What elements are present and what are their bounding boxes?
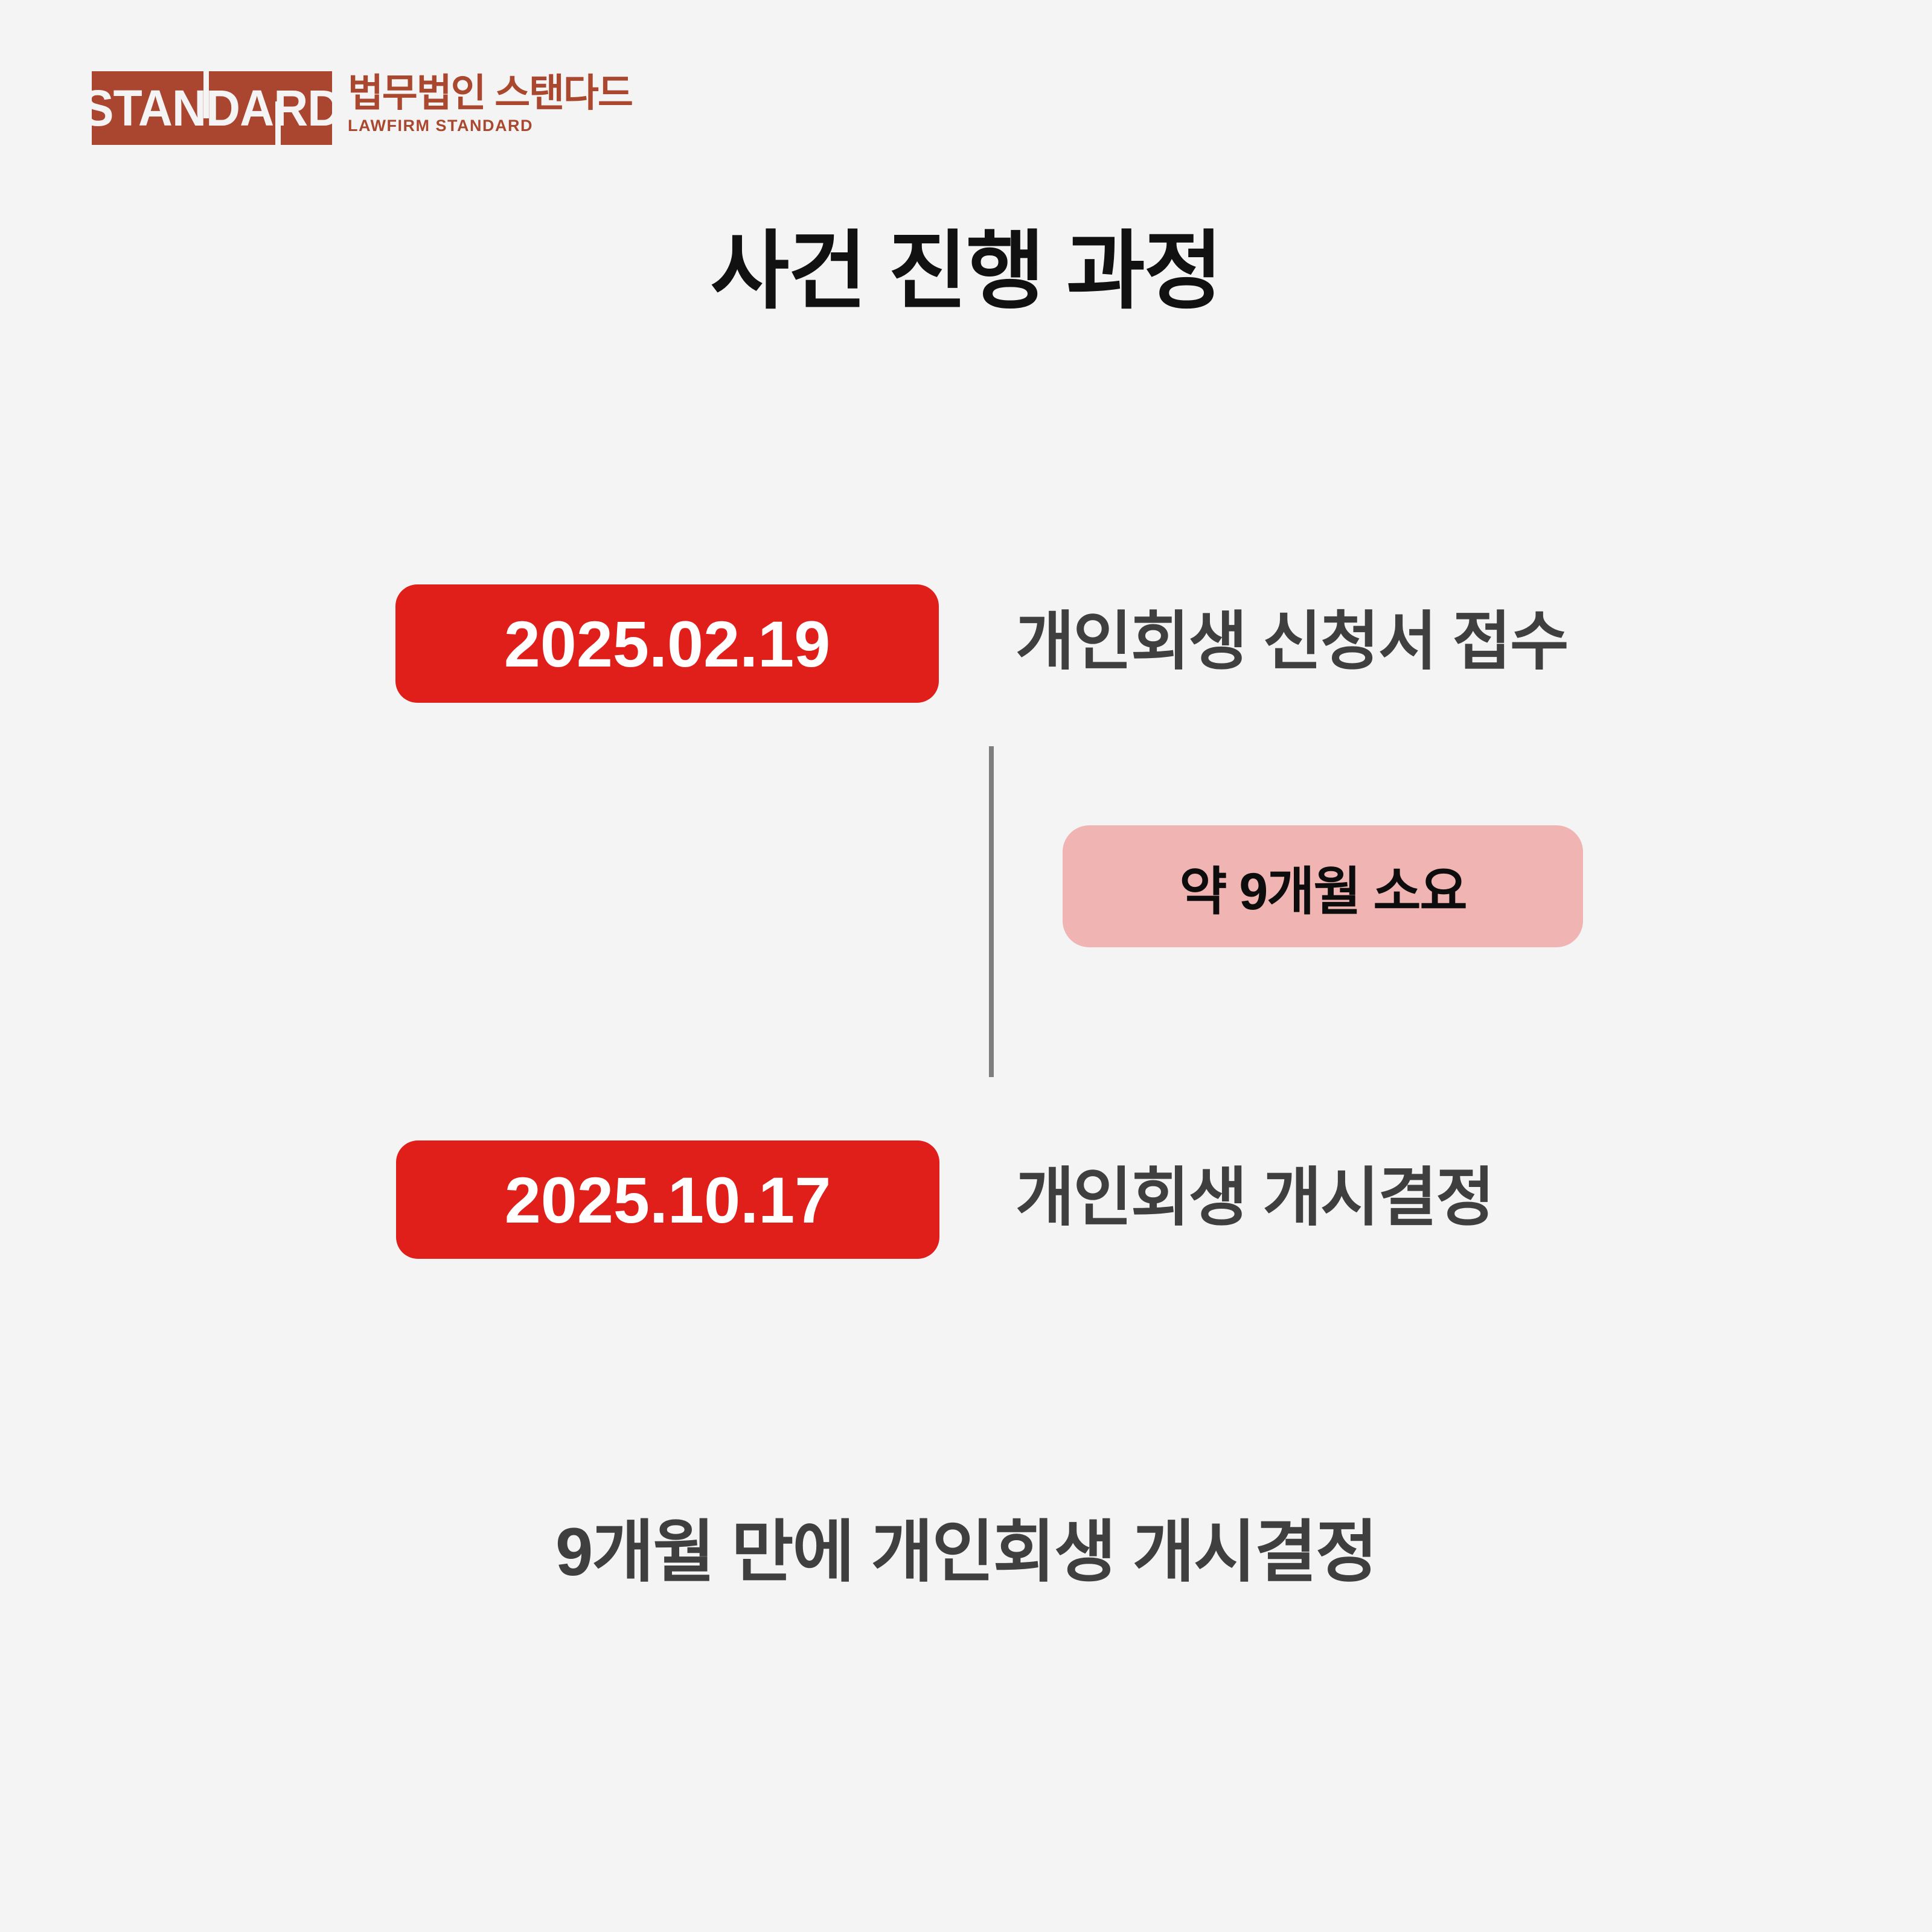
timeline-connector-line [989,746,994,1077]
standard-logo-mark: STANDARD [92,71,332,145]
timeline-event-label-1: 개인회생 신청서 접수 [1016,589,1568,682]
timeline-date-badge-1: 2025.02.19 [395,584,939,703]
summary-caption: 9개월 만에 개인회생 개시결정 [0,1512,1932,1593]
logo-wordmark: STANDARD [92,83,332,133]
case-progress-timeline: 2025.02.19 개인회생 신청서 접수 약 9개월 소요 2025.10.… [0,0,1932,1932]
timeline-duration-badge: 약 9개월 소요 [1063,825,1583,947]
timeline-event-label-2: 개인회생 개시결정 [1016,1145,1494,1238]
timeline-date-badge-2: 2025.10.17 [396,1140,939,1259]
